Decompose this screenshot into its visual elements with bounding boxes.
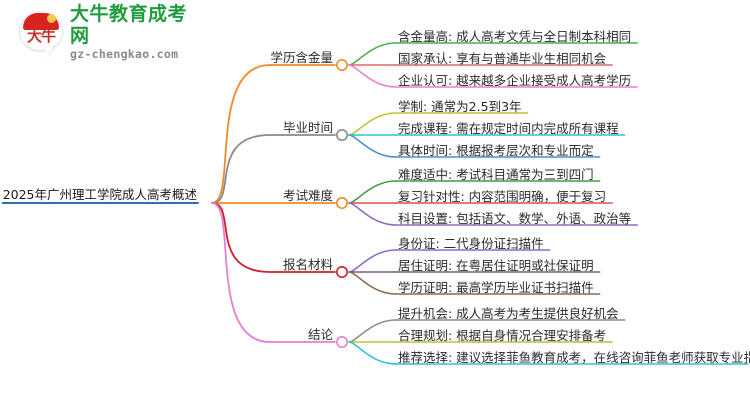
leaf-node-label-3-3[interactable]: 科目设置: 包括语文、数学、外语、政治等 xyxy=(398,212,631,226)
site-logo[interactable]: 大牛 大牛教育成考网 gz-chengkao.com xyxy=(18,6,198,58)
leaf-node-label-5-2[interactable]: 合理规划: 根据自身情况合理安排备考 xyxy=(398,329,606,343)
leaf-node-label-1-2[interactable]: 国家承认: 享有与普通毕业生相同机会 xyxy=(398,52,606,66)
branch-node-label-2[interactable]: 毕业时间 xyxy=(283,121,333,135)
logo-mark-text: 大牛 xyxy=(18,25,64,46)
logo-mark-icon: 大牛 xyxy=(18,9,64,55)
leaf-node-label-5-3[interactable]: 推荐选择: 建议选择菲鱼教育成考，在线咨询菲鱼老师获取专业指导。 xyxy=(398,351,750,365)
leaf-node-label-1-1[interactable]: 含金量高: 成人高考文凭与全日制本科相同 xyxy=(398,30,631,44)
leaf-node-label-2-2[interactable]: 完成课程: 需在规定时间内完成所有课程 xyxy=(398,122,619,136)
leaf-node-label-2-3[interactable]: 具体时间: 根据报考层次和专业而定 xyxy=(398,144,594,158)
branch-node-label-4[interactable]: 报名材料 xyxy=(283,258,333,272)
mindmap-connectors xyxy=(0,0,750,410)
leaf-node-label-4-2[interactable]: 居住证明: 在粤居住证明或社保证明 xyxy=(398,259,594,273)
leaf-node-label-2-1[interactable]: 学制: 通常为2.5到3年 xyxy=(398,100,522,114)
branch-node-label-5[interactable]: 结论 xyxy=(308,328,333,342)
logo-title: 大牛教育成考网 xyxy=(70,3,198,47)
leaf-node-label-4-1[interactable]: 身份证: 二代身份证扫描件 xyxy=(398,237,544,251)
logo-cap-dot xyxy=(47,14,56,23)
branch-node-label-1[interactable]: 学历含金量 xyxy=(270,51,333,65)
logo-text-block: 大牛教育成考网 gz-chengkao.com xyxy=(70,3,198,62)
branch-node-label-3[interactable]: 考试难度 xyxy=(283,189,333,203)
leaf-node-label-3-2[interactable]: 复习针对性: 内容范围明确，便于复习 xyxy=(398,190,606,204)
leaf-node-label-3-1[interactable]: 难度适中: 考试科目通常为三到四门 xyxy=(398,168,594,182)
leaf-node-label-5-1[interactable]: 提升机会: 成人高考为考生提供良好机会 xyxy=(398,307,619,321)
leaf-node-label-1-3[interactable]: 企业认可: 越来越多企业接受成人高考学历 xyxy=(398,74,631,88)
leaf-node-label-4-3[interactable]: 学历证明: 最高学历毕业证书扫描件 xyxy=(398,281,594,295)
root-node-label: 2025年广州理工学院成人高考概述 xyxy=(3,188,197,202)
mindmap-canvas: 大牛 大牛教育成考网 gz-chengkao.com 2025年广州理工学院成人… xyxy=(0,0,750,410)
logo-subtitle: gz-chengkao.com xyxy=(70,47,198,62)
